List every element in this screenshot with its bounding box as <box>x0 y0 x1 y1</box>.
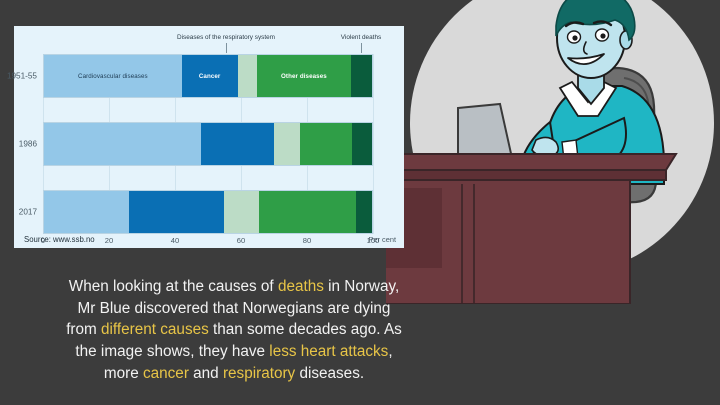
caption-line-4: the image shows, they have less heart at… <box>12 341 456 363</box>
segment-other-diseases-2017[interactable] <box>259 191 356 233</box>
pupil-left <box>572 35 577 40</box>
caption-l1-a: When looking at the causes of <box>69 278 278 295</box>
caption-hl-less-heart-attacks: less heart attacks <box>269 343 388 360</box>
caption-l5-b: diseases. <box>295 365 364 382</box>
segment-respiratory-1951[interactable] <box>238 55 258 97</box>
callout-respiratory: Diseases of the respiratory system <box>177 34 275 41</box>
chart-panel: Diseases of the respiratory system Viole… <box>14 26 404 248</box>
caption-hl-cancer: cancer <box>143 365 189 382</box>
xtick-40: 40 <box>171 236 179 245</box>
callout-violent-deaths: Violent deaths <box>341 34 381 41</box>
illustration-man-at-desk <box>386 0 720 304</box>
caption-line-1: When looking at the causes of deaths in … <box>12 276 456 298</box>
caption-l4-b: , <box>388 343 392 360</box>
segment-cardiovascular-1951[interactable]: Cardiovascular diseases <box>44 55 182 97</box>
caption-hl-respiratory: respiratory <box>223 365 295 382</box>
y-label-2017: 2017 <box>19 208 37 217</box>
bar-row-1951-55[interactable]: 1951-55 Cardiovascular diseases Cancer O… <box>43 54 373 98</box>
gridline-100 <box>373 54 374 234</box>
caption-l1-b: in Norway, <box>324 278 399 295</box>
y-label-1986: 1986 <box>19 140 37 149</box>
bar-row-1986[interactable]: 1986 <box>43 122 373 166</box>
unit-label: Per cent <box>368 235 396 244</box>
caption-text: When looking at the causes of deaths in … <box>12 276 456 385</box>
segment-other-diseases-1986[interactable] <box>300 123 352 165</box>
segment-cardiovascular-1986[interactable] <box>44 123 201 165</box>
caption-l5-a: more <box>104 365 143 382</box>
segment-respiratory-1986[interactable] <box>274 123 300 165</box>
callout-stem-violent-deaths <box>361 43 362 53</box>
illustration-svg <box>386 0 720 304</box>
caption-l3-a: from <box>66 321 101 338</box>
caption-line-5: more cancer and respiratory diseases. <box>12 363 456 385</box>
xtick-20: 20 <box>105 236 113 245</box>
caption-hl-different-causes: different causes <box>101 321 209 338</box>
pupil-right <box>600 33 605 38</box>
segment-cancer-1986[interactable] <box>201 123 273 165</box>
callout-stem-respiratory <box>226 43 227 53</box>
y-label-1951-55: 1951-55 <box>7 72 37 81</box>
bar-row-2017[interactable]: 2017 <box>43 190 373 234</box>
caption-l5-mid: and <box>189 365 223 382</box>
xtick-80: 80 <box>303 236 311 245</box>
caption-line-3: from different causes than some decades … <box>12 319 456 341</box>
desk-edge <box>386 170 666 180</box>
segment-cancer-2017[interactable] <box>129 191 224 233</box>
caption-l4-a: the image shows, they have <box>75 343 269 360</box>
segment-cardiovascular-2017[interactable] <box>44 191 129 233</box>
segment-respiratory-2017[interactable] <box>224 191 258 233</box>
xtick-60: 60 <box>237 236 245 245</box>
caption-l3-b: than some decades ago. As <box>209 321 402 338</box>
plot-area: 1951-55 Cardiovascular diseases Cancer O… <box>43 54 373 234</box>
segment-cancer-1951[interactable]: Cancer <box>182 55 238 97</box>
source-note: Source: www.ssb.no <box>24 235 95 244</box>
caption-hl-deaths: deaths <box>278 278 324 295</box>
segment-violent-deaths-1986[interactable] <box>352 123 372 165</box>
caption-line-2: Mr Blue discovered that Norwegians are d… <box>12 298 456 320</box>
segment-other-diseases-1951[interactable]: Other diseases <box>257 55 350 97</box>
segment-violent-deaths-1951[interactable] <box>351 55 372 97</box>
desk-top <box>386 154 676 170</box>
segment-violent-deaths-2017[interactable] <box>356 191 372 233</box>
